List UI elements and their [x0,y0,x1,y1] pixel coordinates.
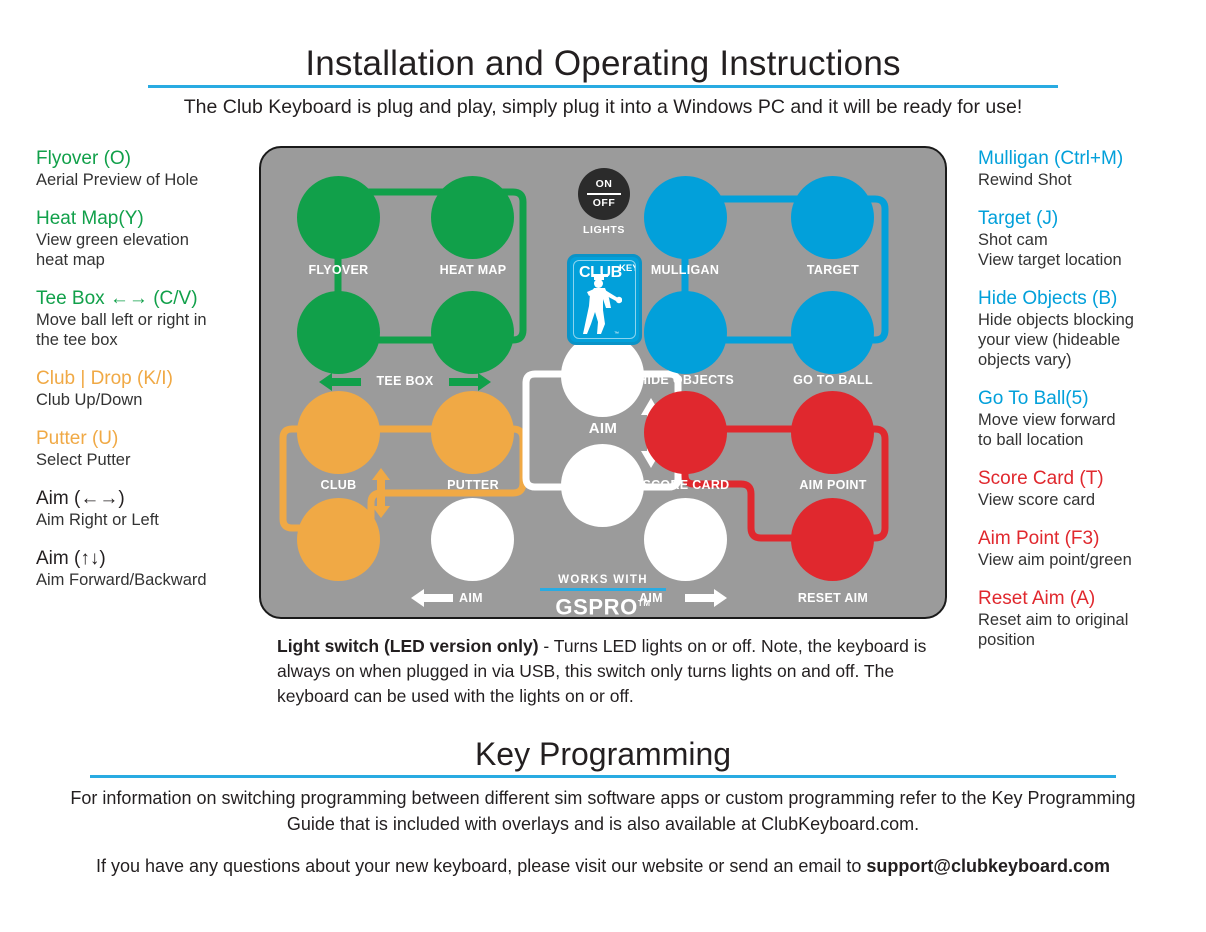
key-drop[interactable] [297,498,380,581]
key-programming-title: Key Programming [0,736,1206,773]
key-label-flyover: FLYOVER [297,263,380,277]
light-switch-off-label: OFF [593,197,616,210]
legend-desc: Reset aim to originalposition [978,610,1206,650]
key-hide-objects[interactable] [644,291,727,374]
key-flyover[interactable] [297,176,380,259]
legend-desc: Aim Forward/Backward [36,570,264,590]
legend-item-club-drop: Club | Drop (K/I) Club Up/Down [36,367,264,410]
legend-title: Club | Drop (K/I) [36,367,264,390]
key-label-aim-left: AIM [459,591,499,605]
legend-title: Flyover (O) [36,147,264,170]
legend-item-reset-aim: Reset Aim (A) Reset aim to originalposit… [978,587,1206,650]
light-switch-caption: LIGHTS [578,224,630,236]
gspro-tm-mark: TM [638,599,651,608]
legend-desc: View aim point/green [978,550,1206,570]
legend-item-target: Target (J) Shot camView target location [978,207,1206,270]
legend-item-aim-horizontal: Aim (←→) Aim Right or Left [36,487,264,530]
key-score-card[interactable] [644,391,727,474]
legend-item-go-to-ball: Go To Ball(5) Move view forwardto ball l… [978,387,1206,450]
key-heat-map[interactable] [431,176,514,259]
legend-title: Aim Point (F3) [978,527,1206,550]
legend-title: Heat Map(Y) [36,207,264,230]
key-label-target: TARGET [787,263,879,277]
legend-title: Aim (←→) [36,487,264,510]
key-label-tee-box: TEE BOX [365,374,445,388]
support-footer-text: If you have any questions about your new… [96,856,866,876]
legend-desc: Select Putter [36,450,264,470]
key-aim-right[interactable] [644,498,727,581]
key-label-aim-center: AIM [557,420,649,437]
page-title: Installation and Operating Instructions [0,44,1206,84]
key-reset-aim[interactable] [791,498,874,581]
key-aim-point[interactable] [791,391,874,474]
legend-desc: View score card [978,490,1206,510]
key-target[interactable] [791,176,874,259]
legend-title: Putter (U) [36,427,264,450]
key-label-hide-objects: HIDE OBJECTS [631,373,741,387]
legend-title: Score Card (T) [978,467,1206,490]
club-updown-arrow-icon [371,468,391,518]
key-club[interactable] [297,391,380,474]
key-mulligan[interactable] [644,176,727,259]
legend-desc: View green elevationheat map [36,230,264,270]
legend-desc: Move ball left or right inthe tee box [36,310,264,350]
key-label-reset-aim: RESET AIM [783,591,883,605]
legend-title: Hide Objects (B) [978,287,1206,310]
key-label-club: CLUB [297,478,380,492]
legend-item-aim-point: Aim Point (F3) View aim point/green [978,527,1206,570]
logo-inner-frame: CLUB KEYBOARD ™ [573,260,636,339]
legend-title: Target (J) [978,207,1206,230]
legend-item-putter: Putter (U) Select Putter [36,427,264,470]
aim-right-arrow-icon [685,588,727,608]
legend-desc: Shot camView target location [978,230,1206,270]
legend-title: Go To Ball(5) [978,387,1206,410]
legend-title: Reset Aim (A) [978,587,1206,610]
key-programming-paragraph: For information on switching programming… [70,785,1136,837]
legend-item-heat-map: Heat Map(Y) View green elevationheat map [36,207,264,270]
header-divider [148,85,1058,88]
light-switch-toggle[interactable]: ON OFF [578,168,630,220]
key-label-mulligan: MULLIGAN [639,263,731,277]
legend-item-tee-box: Tee Box ←→ (C/V) Move ball left or right… [36,287,264,350]
key-tee-box-right[interactable] [431,291,514,374]
key-label-heat-map: HEAT MAP [427,263,519,277]
key-label-putter: PUTTER [427,478,519,492]
legend-item-flyover: Flyover (O) Aerial Preview of Hole [36,147,264,190]
key-label-score-card: SCORE CARD [636,478,736,492]
key-programming-divider [90,775,1116,778]
legend-desc: Rewind Shot [978,170,1206,190]
light-switch-note-bold: Light switch (LED version only) [277,636,539,656]
left-legend-column: Flyover (O) Aerial Preview of Hole Heat … [36,147,264,607]
light-switch-divider [587,193,621,195]
works-with-divider [540,588,666,591]
legend-desc: Move view forwardto ball location [978,410,1206,450]
gspro-text: GSPRO [555,594,637,619]
legend-title: Tee Box ←→ (C/V) [36,287,264,310]
right-legend-column: Mulligan (Ctrl+M) Rewind Shot Target (J)… [978,147,1206,667]
gspro-wordmark: GSPROTM [536,592,670,619]
instruction-sheet: Installation and Operating Instructions … [0,0,1206,932]
tee-box-left-arrow-icon [319,372,361,392]
works-with-gspro-badge: WORKS WITH GSPROTM [536,574,670,619]
key-tee-box-left[interactable] [297,291,380,374]
legend-item-aim-vertical: Aim (↑↓) Aim Forward/Backward [36,547,264,590]
logo-tm-mark: ™ [614,331,619,337]
works-with-label: WORKS WITH [536,574,670,586]
key-aim-down[interactable] [561,444,644,527]
key-go-to-ball[interactable] [791,291,874,374]
key-label-go-to-ball: GO TO BALL [780,373,886,387]
key-aim-left[interactable] [431,498,514,581]
light-switch-note: Light switch (LED version only) - Turns … [277,634,942,709]
legend-desc: Aim Right or Left [36,510,264,530]
legend-item-mulligan: Mulligan (Ctrl+M) Rewind Shot [978,147,1206,190]
legend-desc: Club Up/Down [36,390,264,410]
legend-title: Aim (↑↓) [36,547,264,570]
legend-desc: Hide objects blockingyour view (hideable… [978,310,1206,370]
light-switch-on-label: ON [596,178,613,191]
legend-desc: Aerial Preview of Hole [36,170,264,190]
club-keyboard-logo: CLUB KEYBOARD ™ [567,254,642,345]
page-subtitle: The Club Keyboard is plug and play, simp… [0,96,1206,119]
legend-item-hide-objects: Hide Objects (B) Hide objects blockingyo… [978,287,1206,370]
support-email: support@clubkeyboard.com [866,856,1110,876]
key-putter[interactable] [431,391,514,474]
aim-left-arrow-icon [411,588,453,608]
legend-title: Mulligan (Ctrl+M) [978,147,1206,170]
key-label-aim-point: AIM POINT [783,478,883,492]
legend-item-score-card: Score Card (T) View score card [978,467,1206,510]
tee-box-right-arrow-icon [449,372,491,392]
golfer-silhouette-icon [578,268,622,336]
support-footer: If you have any questions about your new… [40,856,1166,877]
